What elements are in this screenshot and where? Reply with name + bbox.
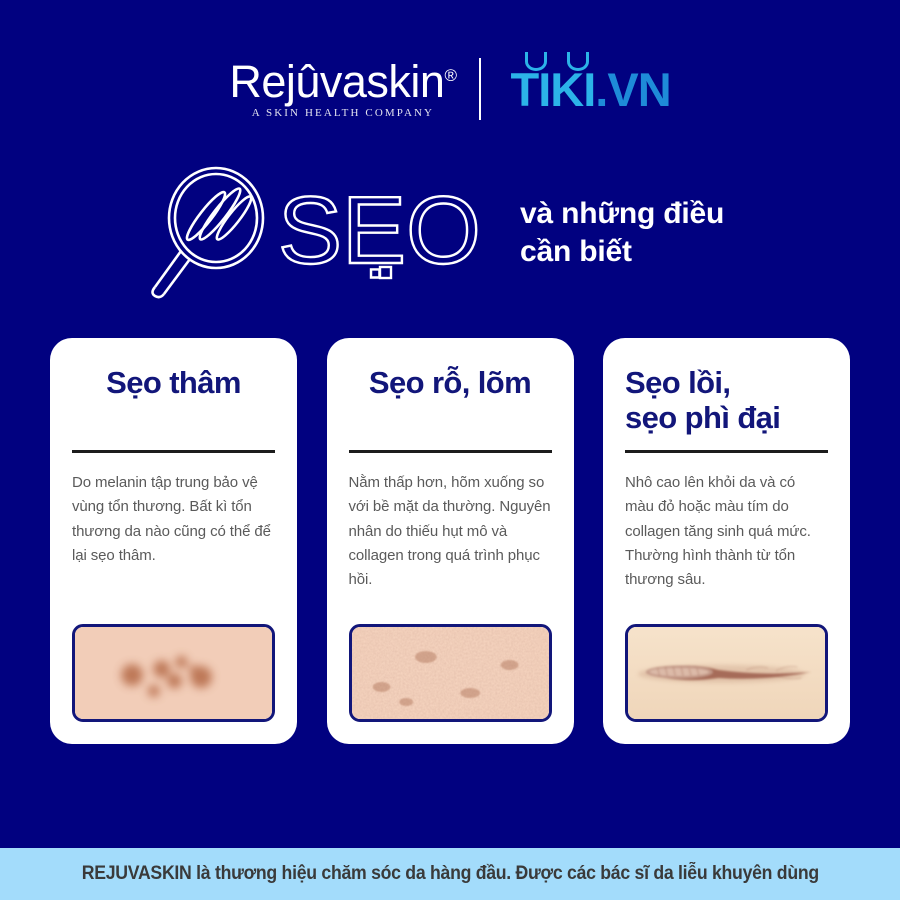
rejuvaskin-wordmark: Rejûvaskin®	[229, 59, 456, 104]
pitted-scar-image	[352, 627, 549, 719]
card-body: Nhô cao lên khỏi da và có màu đỏ hoặc mà…	[625, 471, 828, 624]
seo-headline: SẸO	[276, 181, 504, 286]
tiki-hook-icon-2	[567, 52, 589, 71]
card-divider	[625, 450, 828, 453]
card-body: Do melanin tập trung bảo vệ vùng tổn thư…	[72, 471, 275, 624]
card-seo-tham[interactable]: Sẹo thâm Do melanin tập trung bảo vệ vùn…	[50, 338, 297, 744]
card-body: Nằm thấp hơn, hõm xuống so với bề mặt da…	[349, 471, 552, 624]
rejuvaskin-logo: Rejûvaskin® A SKIN HEALTH COMPANY	[229, 59, 478, 119]
tiki-primary-text: TIKI	[511, 63, 596, 116]
rejuvaskin-name: Rejûvaskin	[229, 56, 444, 107]
card-seo-loi-phi-dai[interactable]: Sẹo lồi, sẹo phì đại Nhô cao lên khỏi da…	[603, 338, 850, 744]
card-title: Sẹo lồi, sẹo phì đại	[625, 366, 828, 440]
card-seo-ro-lom[interactable]: Sẹo rỗ, lõm Nằm thấp hơn, hõm xuống so v…	[327, 338, 574, 744]
card-figure-pitted	[349, 624, 552, 722]
card-title: Sẹo thâm	[72, 366, 275, 440]
title-subhead: và những điều cần biết	[520, 195, 724, 271]
magnifier-scar-icon	[148, 166, 268, 301]
footer-bar: REJUVASKIN là thương hiệu chăm sóc da hà…	[0, 848, 900, 900]
raised-keloid-scar-image	[628, 627, 825, 719]
dark-spot-scar-image	[75, 627, 272, 719]
brand-header: Rejûvaskin® A SKIN HEALTH COMPANY TIKI.V…	[0, 44, 900, 134]
registered-mark-icon: ®	[444, 66, 456, 85]
rejuvaskin-tagline: A SKIN HEALTH COMPANY	[252, 107, 434, 119]
card-divider	[349, 450, 552, 453]
tiki-hook-icon-1	[525, 52, 547, 71]
tiki-logo: TIKI.VN	[481, 66, 671, 113]
card-title: Sẹo rỗ, lõm	[349, 366, 552, 440]
card-figure-keloid	[625, 624, 828, 722]
title-section: SẸO và những điều cần biết	[148, 163, 788, 303]
tiki-wordmark: TIKI.VN	[511, 66, 671, 113]
tiki-secondary-text: .VN	[595, 63, 670, 116]
card-divider	[72, 450, 275, 453]
scar-type-cards: Sẹo thâm Do melanin tập trung bảo vệ vùn…	[50, 338, 850, 744]
footer-text: REJUVASKIN là thương hiệu chăm sóc da hà…	[81, 863, 818, 885]
card-figure-dark-spot	[72, 624, 275, 722]
